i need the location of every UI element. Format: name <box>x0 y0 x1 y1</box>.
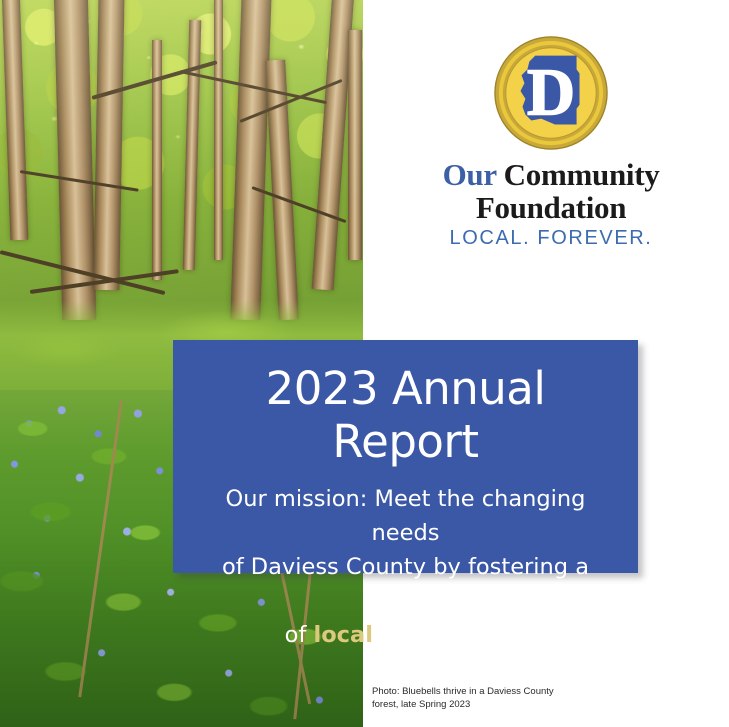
photo-caption: Photo: Bluebells thrive in a Daviess Cou… <box>372 686 602 711</box>
photo-caption-line-1: Photo: Bluebells thrive in a Daviess Cou… <box>372 686 602 699</box>
organization-logo: D Our Community Foundation LOCAL. FOREVE… <box>420 34 682 250</box>
daviess-county-coin-logo: D <box>492 34 610 152</box>
logo-wordmark-line-2: Foundation <box>420 191 682 224</box>
mission-accent-word: local <box>314 622 373 648</box>
mission-line-3: of local philanthropy. <box>203 618 608 652</box>
logo-wordmark-line-1: Our Community <box>420 158 682 191</box>
page-title: 2023 Annual Report <box>203 362 608 468</box>
mission-line-3-before: of <box>285 622 314 648</box>
monogram-letter: D <box>527 56 575 130</box>
mission-line-2: of Daviess County by fostering a culture <box>203 550 608 618</box>
logo-word-our: Our <box>443 157 497 192</box>
mission-statement: Our mission: Meet the changing needs of … <box>203 482 608 652</box>
photo-caption-line-2: forest, late Spring 2023 <box>372 699 602 712</box>
logo-tagline: LOCAL. FOREVER. <box>420 227 682 250</box>
annual-report-hero-panel: 2023 Annual Report Our mission: Meet the… <box>173 340 638 573</box>
logo-word-community: Community <box>496 157 659 192</box>
mission-line-3-after: philanthropy. <box>373 622 526 648</box>
mission-line-1: Our mission: Meet the changing needs <box>203 482 608 550</box>
